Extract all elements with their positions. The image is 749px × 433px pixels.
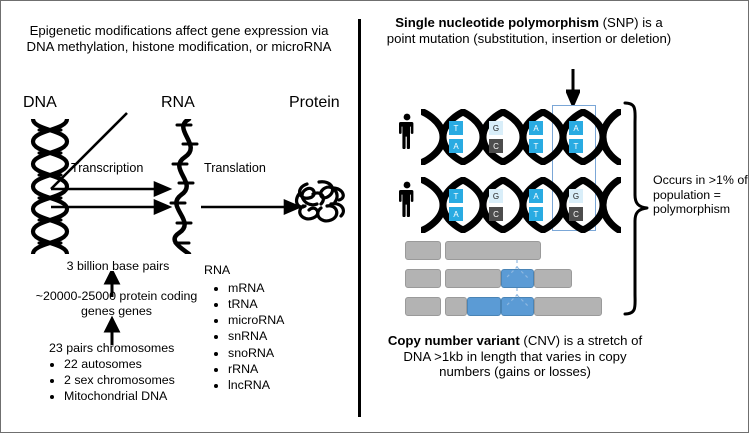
list-item: Mitochondrial DNA xyxy=(64,388,199,404)
base-pair: G C xyxy=(489,189,503,221)
svg-text:T: T xyxy=(534,210,539,219)
cnv-connector-lines xyxy=(405,241,635,321)
person-icon xyxy=(399,181,415,217)
svg-text:C: C xyxy=(573,210,579,219)
svg-text:G: G xyxy=(573,192,579,201)
base-pair: G C xyxy=(489,121,503,153)
cnv-title: Copy number variant xyxy=(388,333,520,348)
list-item: mRNA xyxy=(228,280,344,296)
list-item: tRNA xyxy=(228,296,344,312)
base-pair-variant: G C xyxy=(569,189,583,221)
snp-pointer-arrow xyxy=(566,69,580,105)
chromosomes-heading: 23 pairs chromosomes xyxy=(49,341,199,356)
list-item: snRNA xyxy=(228,328,344,344)
svg-text:G: G xyxy=(493,124,499,133)
label-transcription: Transcription xyxy=(71,161,181,176)
population-brace xyxy=(621,101,651,316)
rna-types-heading: RNA xyxy=(204,263,344,278)
list-item: snoRNA xyxy=(228,345,344,361)
svg-text:A: A xyxy=(453,142,459,151)
figure-root: Epigenetic modifications affect gene exp… xyxy=(0,0,749,433)
svg-text:C: C xyxy=(493,142,499,151)
svg-text:A: A xyxy=(533,192,539,201)
list-item: 22 autosomes xyxy=(64,356,199,372)
svg-text:T: T xyxy=(454,124,459,133)
base-pair-variant: A T xyxy=(569,121,583,153)
chromosome-list: 22 autosomes 2 sex chromosomes Mitochond… xyxy=(49,356,199,405)
svg-text:A: A xyxy=(453,210,459,219)
polymorphism-note: Occurs in >1% of population = polymorphi… xyxy=(653,173,749,217)
base-pair: A T xyxy=(529,189,543,221)
list-item: microRNA xyxy=(228,312,344,328)
genome-stack-arrows xyxy=(101,271,123,346)
panel-divider xyxy=(358,19,361,417)
snp-title: Single nucleotide polymorphism xyxy=(395,15,599,30)
svg-text:C: C xyxy=(493,210,499,219)
base-pair: A T xyxy=(529,121,543,153)
svg-text:A: A xyxy=(573,124,579,133)
person-icon xyxy=(399,113,415,149)
rna-types-list: mRNA tRNA microRNA snRNA snoRNA rRNA lnc… xyxy=(204,280,344,394)
svg-text:T: T xyxy=(454,192,459,201)
protein-blob-icon xyxy=(293,176,349,228)
epigenetics-note: Epigenetic modifications affect gene exp… xyxy=(19,23,339,54)
snp-caption: Single nucleotide polymorphism (SNP) is … xyxy=(384,15,674,46)
dna-strand-person-1: T A G C A T A T xyxy=(421,109,621,165)
list-item: rRNA xyxy=(228,361,344,377)
svg-text:G: G xyxy=(493,192,499,201)
svg-text:T: T xyxy=(534,142,539,151)
cnv-caption: Copy number variant (CNV) is a stretch o… xyxy=(384,333,646,380)
chromosomes-block: 23 pairs chromosomes 22 autosomes 2 sex … xyxy=(49,341,199,405)
list-item: lncRNA xyxy=(228,377,344,393)
rna-types-block: RNA mRNA tRNA microRNA snRNA snoRNA rRNA… xyxy=(204,263,344,393)
label-translation: Translation xyxy=(204,161,304,176)
svg-text:T: T xyxy=(574,142,579,151)
svg-text:A: A xyxy=(533,124,539,133)
dna-strand-person-2: T A G C A T G C xyxy=(421,177,621,233)
base-pair: T A xyxy=(449,189,463,221)
base-pair: T A xyxy=(449,121,463,153)
list-item: 2 sex chromosomes xyxy=(64,372,199,388)
